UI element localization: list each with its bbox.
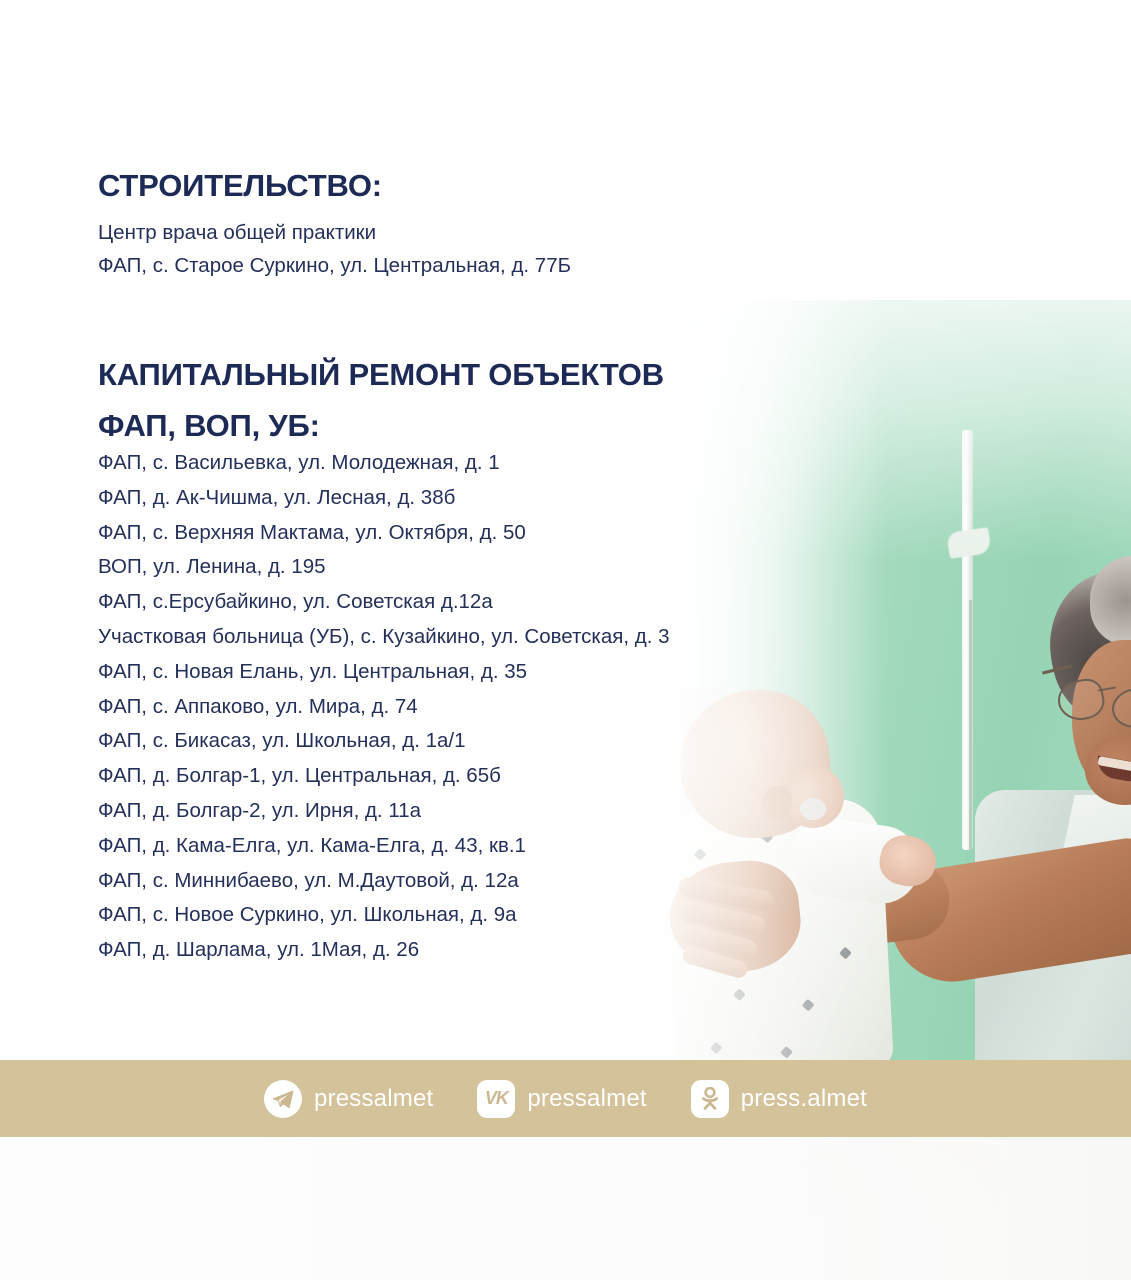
overhaul-list-item: ФАП, с. Новая Елань, ул. Центральная, д.… xyxy=(98,655,670,690)
overhaul-list-item: ВОП, ул. Ленина, д. 195 xyxy=(98,550,670,585)
overhaul-list-item: ФАП, д. Болгар-1, ул. Центральная, д. 65… xyxy=(98,759,670,794)
overhaul-list-item: ФАП, с. Миннибаево, ул. М.Даутовой, д. 1… xyxy=(98,864,670,899)
construction-heading: СТРОИТЕЛЬСТВО: xyxy=(98,167,382,205)
overhaul-list-item: ФАП, с. Бикасаз, ул. Школьная, д. 1а/1 xyxy=(98,724,670,759)
social-link-odnoklassniki[interactable]: press.almet xyxy=(691,1080,867,1118)
overhaul-list-item: ФАП, с. Новое Суркино, ул. Школьная, д. … xyxy=(98,898,670,933)
overhaul-list-item: ФАП, с. Аппаково, ул. Мира, д. 74 xyxy=(98,690,670,725)
odnoklassniki-handle[interactable]: press.almet xyxy=(741,1085,867,1113)
overhaul-heading-line-1: КАПИТАЛЬНЫЙ РЕМОНТ ОБЪЕКТОВ xyxy=(98,357,664,392)
overhaul-heading-line-2: ФАП, ВОП, УБ: xyxy=(98,408,320,443)
vk-icon[interactable]: VK xyxy=(477,1080,515,1118)
vk-handle[interactable]: pressalmet xyxy=(527,1085,646,1113)
overhaul-list-item: ФАП, с. Верхняя Мактама, ул. Октября, д.… xyxy=(98,516,670,551)
poster-slide: СТРОИТЕЛЬСТВО: Центр врача общей практик… xyxy=(0,0,1131,1280)
overhaul-heading: КАПИТАЛЬНЫЙ РЕМОНТ ОБЪЕКТОВ ФАП, ВОП, УБ… xyxy=(98,349,858,451)
social-link-telegram[interactable]: pressalmet xyxy=(264,1080,433,1118)
overhaul-list-item: ФАП, д. Ак-Чишма, ул. Лесная, д. 38б xyxy=(98,481,670,516)
vk-icon-glyph: VK xyxy=(485,1088,508,1109)
construction-list: Центр врача общей практики ФАП, с. Старо… xyxy=(98,216,571,282)
overhaul-list-item: ФАП, д. Кама-Елга, ул. Кама-Елга, д. 43,… xyxy=(98,829,670,864)
overhaul-list-item: ФАП, с. Васильевка, ул. Молодежная, д. 1 xyxy=(98,446,670,481)
construction-list-item: ФАП, с. Старое Суркино, ул. Центральная,… xyxy=(98,249,571,282)
social-footer-bar: pressalmet VK pressalmet press.almet xyxy=(0,1060,1131,1137)
telegram-handle[interactable]: pressalmet xyxy=(314,1085,433,1113)
overhaul-list-item: ФАП, д. Болгар-2, ул. Ирня, д. 11а xyxy=(98,794,670,829)
overhaul-list-item: Участковая больница (УБ), с. Кузайкино, … xyxy=(98,620,670,655)
odnoklassniki-icon[interactable] xyxy=(691,1080,729,1118)
overhaul-list-item: ФАП, с.Ерсубайкино, ул. Советская д.12а xyxy=(98,585,670,620)
overhaul-list-item: ФАП, д. Шарлама, ул. 1Мая, д. 26 xyxy=(98,933,670,968)
telegram-icon[interactable] xyxy=(264,1080,302,1118)
social-link-vk[interactable]: VK pressalmet xyxy=(477,1080,646,1118)
construction-list-item: Центр врача общей практики xyxy=(98,216,571,249)
overhaul-list: ФАП, с. Васильевка, ул. Молодежная, д. 1… xyxy=(98,446,670,968)
